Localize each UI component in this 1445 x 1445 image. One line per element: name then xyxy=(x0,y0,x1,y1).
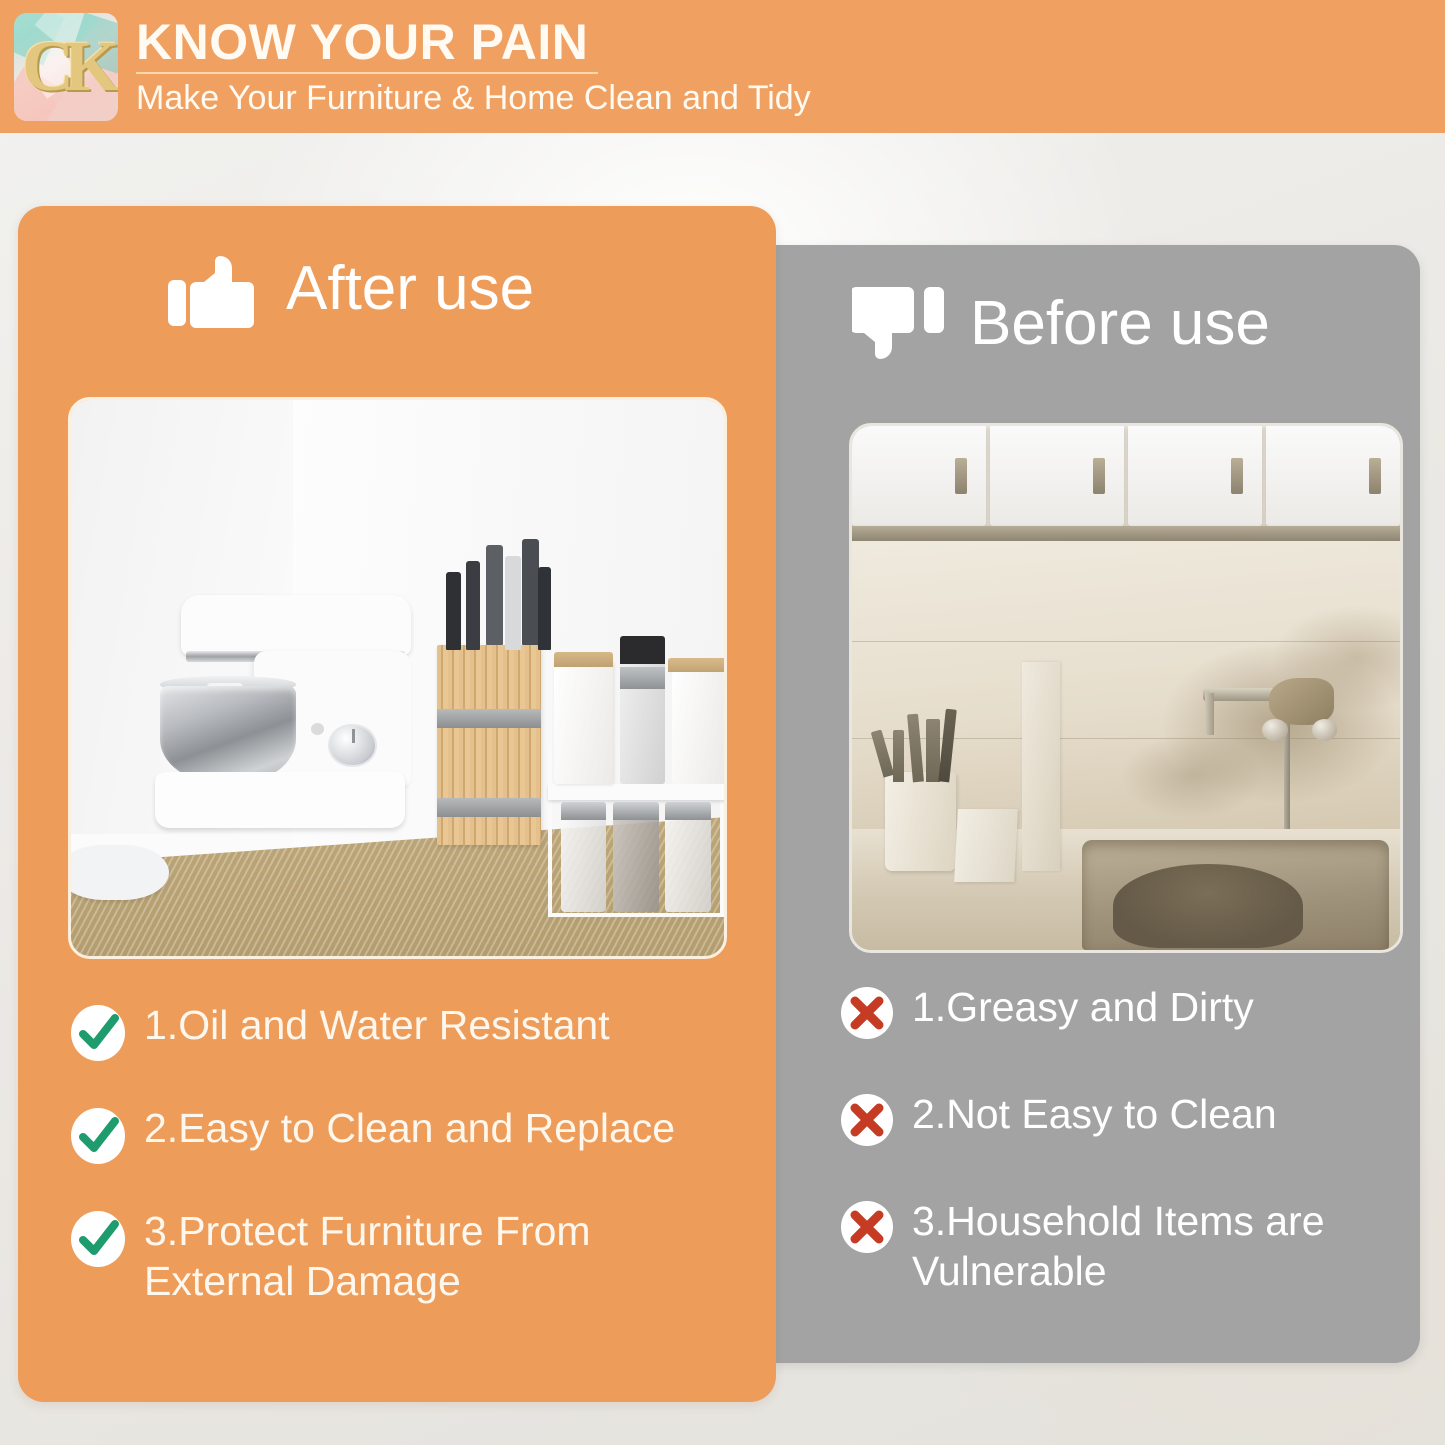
knife-handle xyxy=(486,545,503,645)
benefit-text: 1.Oil and Water Resistant xyxy=(144,1000,610,1050)
problem-text: 3.Household Items are Vulnerable xyxy=(912,1196,1410,1297)
dirty-sink xyxy=(1082,840,1389,950)
cross-circle-icon xyxy=(840,1093,894,1152)
cross-circle-icon xyxy=(840,986,894,1045)
thumbs-down-icon xyxy=(852,285,948,363)
problem-text: 2.Not Easy to Clean xyxy=(912,1089,1277,1139)
cabinet-door xyxy=(990,426,1124,526)
cabinet-door xyxy=(852,426,986,526)
brand-logo: CK xyxy=(14,13,118,121)
before-use-title: Before use xyxy=(970,293,1270,355)
thumbs-up-icon xyxy=(168,248,264,330)
cabinet-handle xyxy=(1093,458,1105,494)
spice-jar xyxy=(561,817,607,912)
knife-block-band xyxy=(437,709,541,728)
mixer-bowl xyxy=(160,686,296,784)
after-photo-scene xyxy=(71,400,724,956)
paper-carton xyxy=(954,809,1018,882)
mixer-indicator xyxy=(311,723,324,735)
cabinet-handle xyxy=(955,458,967,494)
mixer-arm xyxy=(181,595,411,656)
spice-jar-lid xyxy=(561,802,607,820)
wall-seam xyxy=(852,641,1400,642)
spice-jar-lid xyxy=(665,802,711,820)
after-use-heading: After use xyxy=(168,248,534,330)
problem-text: 1.Greasy and Dirty xyxy=(912,982,1254,1032)
check-circle-icon xyxy=(70,1004,126,1067)
faucet-knob xyxy=(1262,719,1287,741)
list-item: 1.Oil and Water Resistant xyxy=(70,1000,740,1067)
grinder-cap xyxy=(620,636,666,664)
list-item: 2.Easy to Clean and Replace xyxy=(70,1103,740,1170)
spice-jar-lid xyxy=(613,802,659,820)
knife-handle xyxy=(505,556,521,651)
cabinet-door xyxy=(1128,426,1262,526)
list-item: 2.Not Easy to Clean xyxy=(840,1089,1410,1152)
bamboo-lid xyxy=(668,658,727,672)
cabinet-handle xyxy=(1231,458,1243,494)
cabinet-handle xyxy=(1369,458,1381,494)
upper-cabinets xyxy=(852,426,1400,526)
before-use-heading: Before use xyxy=(852,285,1270,363)
benefit-text: 3.Protect Furniture From External Damage xyxy=(144,1206,740,1307)
list-item: 3.Protect Furniture From External Damage xyxy=(70,1206,740,1307)
page-subtitle: Make Your Furniture & Home Clean and Tid… xyxy=(136,81,811,117)
logo-monogram-text: CK xyxy=(14,13,118,121)
after-use-benefit-list: 1.Oil and Water Resistant 2.Easy to Clea… xyxy=(70,1000,740,1307)
page-title: KNOW YOUR PAIN xyxy=(136,17,598,74)
before-photo-scene xyxy=(852,426,1400,950)
glass-grinder xyxy=(620,645,666,784)
check-circle-icon xyxy=(70,1107,126,1170)
bamboo-lid xyxy=(554,652,613,666)
check-circle-icon xyxy=(70,1210,126,1273)
cabinet-door xyxy=(1266,426,1400,526)
knife-handle xyxy=(466,561,480,650)
dirty-rag xyxy=(1269,678,1335,725)
knife-handle xyxy=(446,572,460,650)
infographic-page: CK KNOW YOUR PAIN Make Your Furniture & … xyxy=(0,0,1445,1445)
mixer-base xyxy=(155,772,406,828)
spice-jar xyxy=(613,817,659,912)
after-use-title: After use xyxy=(286,258,534,320)
cabinet-ledge xyxy=(852,526,1400,542)
after-use-photo xyxy=(68,397,727,959)
mixer-speed-knob xyxy=(328,724,376,768)
list-item: 1.Greasy and Dirty xyxy=(840,982,1410,1045)
grinder-collar xyxy=(620,667,666,689)
white-canister xyxy=(554,661,613,783)
knife-handle xyxy=(538,567,551,650)
stand-mixer xyxy=(149,595,410,829)
benefit-text: 2.Easy to Clean and Replace xyxy=(144,1103,675,1153)
header-text-block: KNOW YOUR PAIN Make Your Furniture & Hom… xyxy=(136,17,811,117)
shelf-surface xyxy=(548,784,727,801)
sink-basin xyxy=(1113,864,1303,948)
white-canister xyxy=(672,667,727,784)
knife-block-band xyxy=(437,798,541,817)
page-header: CK KNOW YOUR PAIN Make Your Furniture & … xyxy=(0,0,1445,133)
list-item: 3.Household Items are Vulnerable xyxy=(840,1196,1410,1297)
before-use-problem-list: 1.Greasy and Dirty 2.Not Easy to Clean 3… xyxy=(840,982,1410,1341)
faucet-outlet xyxy=(1205,693,1214,735)
wall-pillar xyxy=(1022,662,1060,872)
spice-jar xyxy=(665,817,711,912)
white-plate xyxy=(68,845,169,901)
knife-handle xyxy=(522,539,539,645)
utensil-cup xyxy=(885,772,956,872)
before-use-photo xyxy=(849,423,1403,953)
cross-circle-icon xyxy=(840,1200,894,1259)
utensil xyxy=(893,730,904,782)
